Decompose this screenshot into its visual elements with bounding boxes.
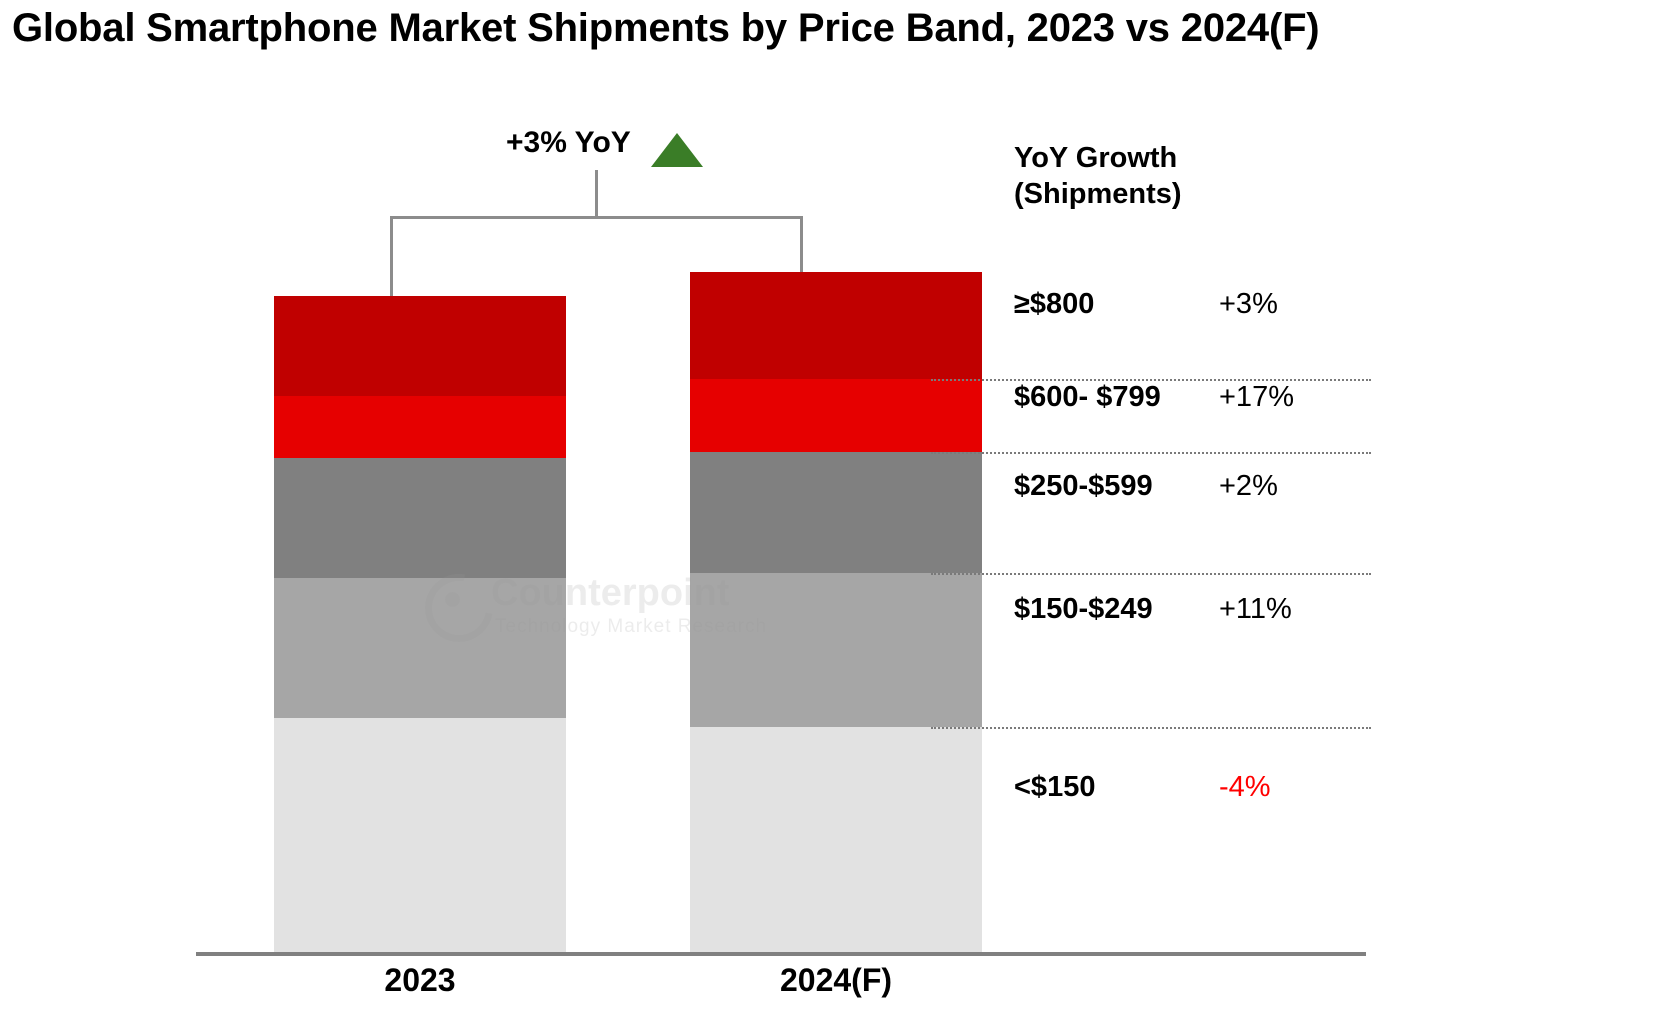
x-axis-label-2024f: 2024(F) xyxy=(690,962,982,999)
legend-row-150-249: $150-$249 +11% xyxy=(1014,593,1374,633)
bracket-left-tick xyxy=(390,216,393,296)
legend-band-label: $250-$599 xyxy=(1014,470,1153,503)
bar-segment-150-249[interactable] xyxy=(690,573,982,727)
up-triangle-icon xyxy=(651,133,703,167)
x-axis-label-2023: 2023 xyxy=(274,962,566,999)
legend-growth-value: -4% xyxy=(1219,771,1271,804)
legend-band-label: $150-$249 xyxy=(1014,593,1153,626)
bracket-stem xyxy=(595,170,598,218)
leader-line-3 xyxy=(931,573,1371,575)
legend-growth-value: +2% xyxy=(1219,470,1278,503)
legend-band-label: $600- $799 xyxy=(1014,381,1161,414)
legend-growth-value: +3% xyxy=(1219,288,1278,321)
leader-line-2 xyxy=(931,452,1371,454)
bracket-right-tick xyxy=(800,216,803,274)
bar-segment-under-150[interactable] xyxy=(690,727,982,952)
leader-line-4 xyxy=(931,727,1371,729)
bar-segment-600-799[interactable] xyxy=(690,379,982,452)
legend-row-800plus: ≥$800 +3% xyxy=(1014,288,1374,328)
chart-root: Global Smartphone Market Shipments by Pr… xyxy=(0,0,1655,1024)
bar-segment-250-599[interactable] xyxy=(690,452,982,573)
x-axis-line xyxy=(196,952,1366,956)
legend-growth-value: +11% xyxy=(1219,593,1292,626)
bar-segment-under-150[interactable] xyxy=(274,718,566,952)
legend-band-label: ≥$800 xyxy=(1014,288,1094,321)
legend-row-under-150: <$150 -4% xyxy=(1014,771,1374,811)
legend-row-600-799: $600- $799 +17% xyxy=(1014,381,1374,421)
legend-row-250-599: $250-$599 +2% xyxy=(1014,470,1374,510)
legend-band-label: <$150 xyxy=(1014,771,1095,804)
legend-growth-value: +17% xyxy=(1219,381,1294,414)
bar-segment-250-599[interactable] xyxy=(274,458,566,578)
bar-2024f[interactable] xyxy=(690,272,982,952)
bar-segment-600-799[interactable] xyxy=(274,396,566,458)
bar-segment-800plus[interactable] xyxy=(690,272,982,379)
plot-area: +3% YoY Counterpoint Technology Mark xyxy=(0,0,1655,1024)
yoy-total-label: +3% YoY xyxy=(506,126,631,160)
bar-segment-150-249[interactable] xyxy=(274,578,566,718)
bracket-top xyxy=(390,216,803,219)
bar-2023[interactable] xyxy=(274,296,566,952)
bar-segment-800plus[interactable] xyxy=(274,296,566,396)
legend-header: YoY Growth (Shipments) xyxy=(1014,140,1182,212)
